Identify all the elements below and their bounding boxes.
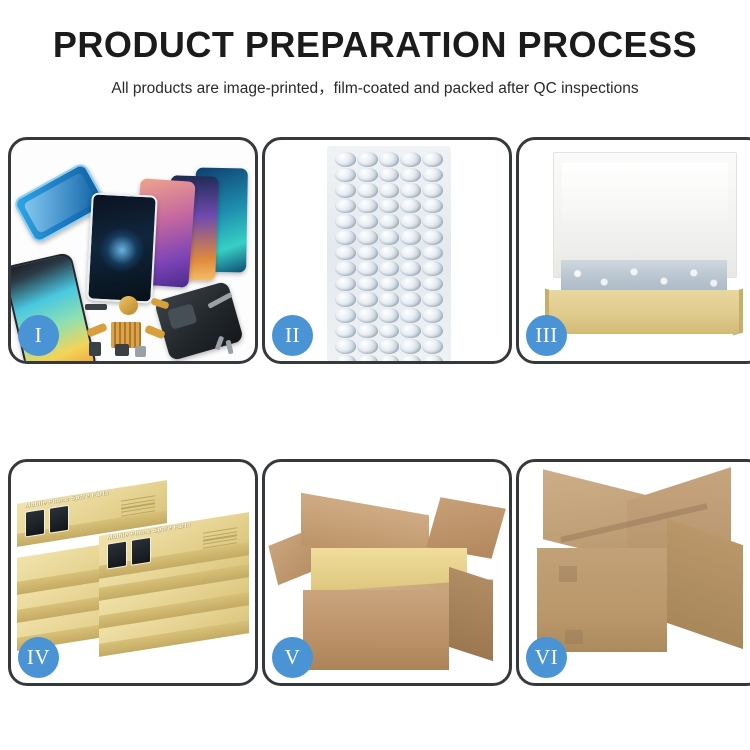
bubble [422, 277, 443, 292]
bubble [357, 183, 378, 198]
bubble [335, 277, 356, 292]
black-glass-phone [86, 192, 158, 303]
bubble [379, 339, 400, 354]
bubble [379, 292, 400, 307]
bubble [357, 324, 378, 339]
bubble [357, 308, 378, 323]
bubble [379, 199, 400, 214]
bubble [379, 168, 400, 183]
bubble [335, 292, 356, 307]
bubble [400, 152, 421, 167]
bubble [422, 152, 443, 167]
bubble [379, 308, 400, 323]
bubble [422, 339, 443, 354]
bubble [422, 355, 443, 361]
bubble [379, 152, 400, 167]
bubble [400, 277, 421, 292]
part-speaker [119, 296, 138, 315]
bubble [335, 183, 356, 198]
product-preparation-infographic: PRODUCT PREPARATION PROCESS All products… [0, 0, 750, 750]
bubble [422, 324, 443, 339]
bubble [379, 230, 400, 245]
bubble [335, 152, 356, 167]
step-badge-6: VI [526, 637, 567, 678]
bubble [379, 214, 400, 229]
process-step-grid: I II III [8, 137, 742, 686]
bubble [335, 308, 356, 323]
bubble [400, 230, 421, 245]
bubble [357, 355, 378, 361]
bubble [422, 230, 443, 245]
bubble [357, 261, 378, 276]
bubble [335, 199, 356, 214]
sealed-carton-side-panel [667, 519, 743, 649]
bubble [357, 168, 378, 183]
bubble-grid [335, 152, 443, 356]
bubble-wrap-sheet [327, 146, 451, 361]
bubble [357, 152, 378, 167]
bubble [400, 214, 421, 229]
bubble [335, 324, 356, 339]
carton-hand-hole [559, 566, 577, 582]
bubble [422, 214, 443, 229]
step-badge-2: II [272, 315, 313, 356]
step-badge-1: I [18, 315, 59, 356]
bubble [379, 183, 400, 198]
bubble [400, 168, 421, 183]
process-step-2: II [262, 137, 512, 364]
part-module [115, 344, 129, 356]
step-badge-5: V [272, 637, 313, 678]
bubble [357, 199, 378, 214]
part-button [135, 346, 146, 357]
bubble [379, 246, 400, 261]
bubble [400, 292, 421, 307]
mailer-front-panel [549, 290, 739, 334]
stacked-box-labeled: Mobile Phone Spare Parts [17, 492, 167, 522]
bubble [335, 168, 356, 183]
bubble [335, 339, 356, 354]
bubble [379, 324, 400, 339]
step-badge-3: III [526, 315, 567, 356]
page-title: PRODUCT PREPARATION PROCESS [0, 27, 750, 63]
carton-side-panel [449, 567, 493, 661]
part-chip [85, 304, 107, 310]
bubble [400, 339, 421, 354]
process-step-3: III [516, 137, 750, 364]
bubble [400, 308, 421, 323]
bubble [422, 292, 443, 307]
part-flex-cable-2 [86, 323, 108, 338]
bubble [422, 199, 443, 214]
bubble [357, 230, 378, 245]
part-camera [89, 342, 101, 356]
process-step-5: V [262, 459, 512, 686]
bubble [422, 308, 443, 323]
bubble [357, 339, 378, 354]
bubble [422, 168, 443, 183]
bubble [422, 261, 443, 276]
bubble [335, 261, 356, 276]
header: PRODUCT PREPARATION PROCESS All products… [0, 0, 750, 98]
bubble [335, 246, 356, 261]
bubble [400, 324, 421, 339]
bubble [422, 183, 443, 198]
page-subtitle: All products are image-printed，film-coat… [0, 76, 750, 98]
process-step-1: I [8, 137, 258, 364]
bubble [357, 246, 378, 261]
step-badge-4: IV [18, 637, 59, 678]
process-step-4: Mobile Phone Spare Parts Mobile Phone Sp… [8, 459, 258, 686]
bubble [357, 214, 378, 229]
bubble [335, 230, 356, 245]
bubble [400, 261, 421, 276]
bubble [357, 277, 378, 292]
bubble [335, 355, 356, 361]
carton-front-panel [303, 590, 449, 670]
bubble [422, 246, 443, 261]
bubble [400, 355, 421, 361]
sealed-carton-front-panel [537, 548, 667, 652]
bubble [400, 246, 421, 261]
bubble [400, 199, 421, 214]
bubble-wrapped-contents [561, 260, 727, 294]
process-step-6: VI [516, 459, 750, 686]
bubble [379, 277, 400, 292]
bubble [379, 261, 400, 276]
carton-hand-hole-2 [565, 630, 583, 644]
bubble [400, 183, 421, 198]
bubble [379, 355, 400, 361]
bubble [357, 292, 378, 307]
bubble [335, 214, 356, 229]
